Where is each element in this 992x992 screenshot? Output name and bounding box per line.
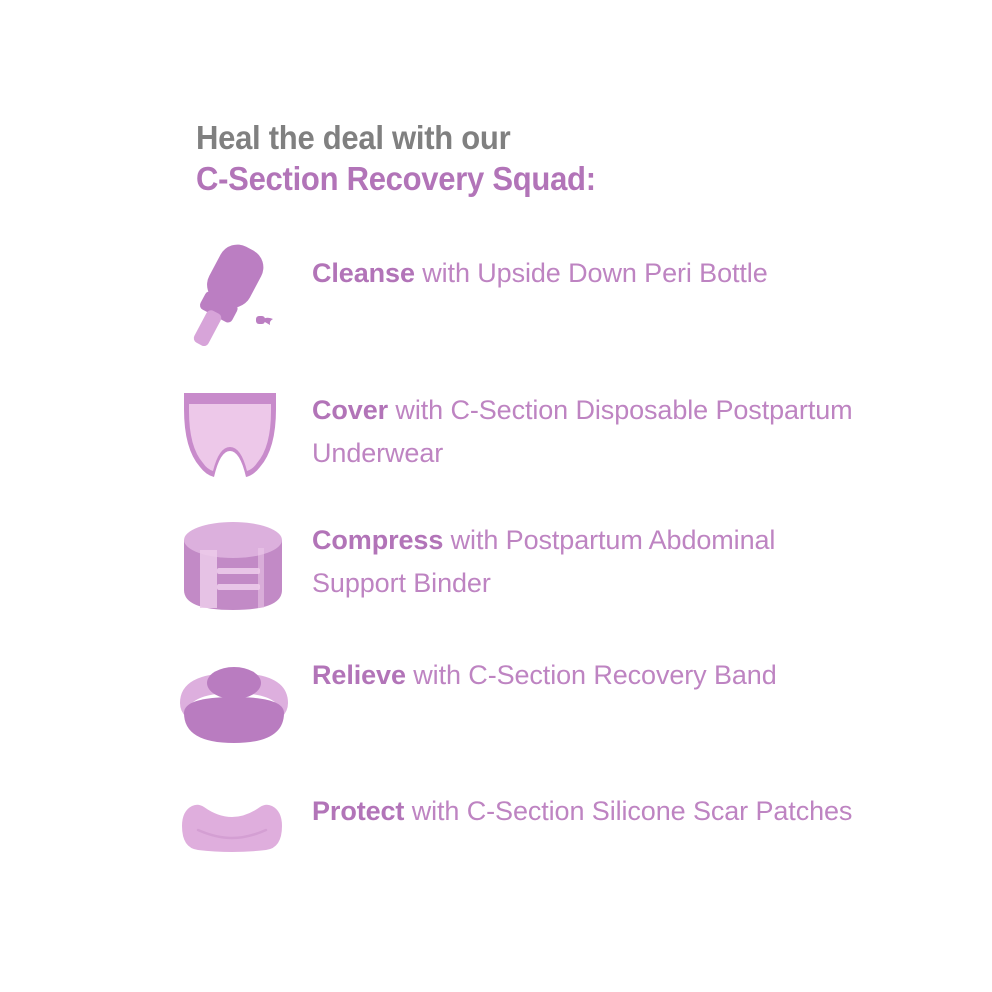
list-item-rest: with C-Section Recovery Band <box>406 660 777 690</box>
peri-bottle-icon <box>178 240 293 362</box>
list-item-lead: Compress <box>312 525 443 555</box>
list-item-rest: with C-Section Disposable Postpartum Und… <box>312 395 853 468</box>
list-item-lead: Protect <box>312 796 404 826</box>
list-item: Cover with C-Section Disposable Postpart… <box>0 375 992 510</box>
list-item-rest: with C-Section Silicone Scar Patches <box>404 796 852 826</box>
page-title: Heal the deal with our C-Section Recover… <box>196 117 896 199</box>
heading-line-secondary: C-Section Recovery Squad: <box>196 158 854 199</box>
list-item: Compress with Postpartum Abdominal Suppo… <box>0 510 992 645</box>
list-item-label: Relieve with C-Section Recovery Band <box>312 645 777 697</box>
list-item-lead: Relieve <box>312 660 406 690</box>
list-item-rest: with Upside Down Peri Bottle <box>415 258 768 288</box>
promo-graphic: Heal the deal with our C-Section Recover… <box>0 0 992 992</box>
list-item-lead: Cover <box>312 395 388 425</box>
list-item-label: Cleanse with Upside Down Peri Bottle <box>312 240 768 295</box>
list-item-label: Compress with Postpartum Abdominal Suppo… <box>312 510 872 605</box>
list-item-label: Cover with C-Section Disposable Postpart… <box>312 375 872 475</box>
product-list: Cleanse with Upside Down Peri Bottle Cov… <box>0 240 992 915</box>
list-item-lead: Cleanse <box>312 258 415 288</box>
recovery-band-icon <box>178 645 293 779</box>
heading-line-primary: Heal the deal with our <box>196 117 854 158</box>
list-item: Protect with C-Section Silicone Scar Pat… <box>0 780 992 915</box>
list-item: Relieve with C-Section Recovery Band <box>0 645 992 780</box>
list-item-label: Protect with C-Section Silicone Scar Pat… <box>312 780 852 833</box>
postpartum-underwear-icon <box>178 375 293 507</box>
silicone-scar-patch-icon <box>178 780 293 922</box>
list-item: Cleanse with Upside Down Peri Bottle <box>0 240 992 375</box>
abdominal-binder-icon <box>178 510 293 638</box>
